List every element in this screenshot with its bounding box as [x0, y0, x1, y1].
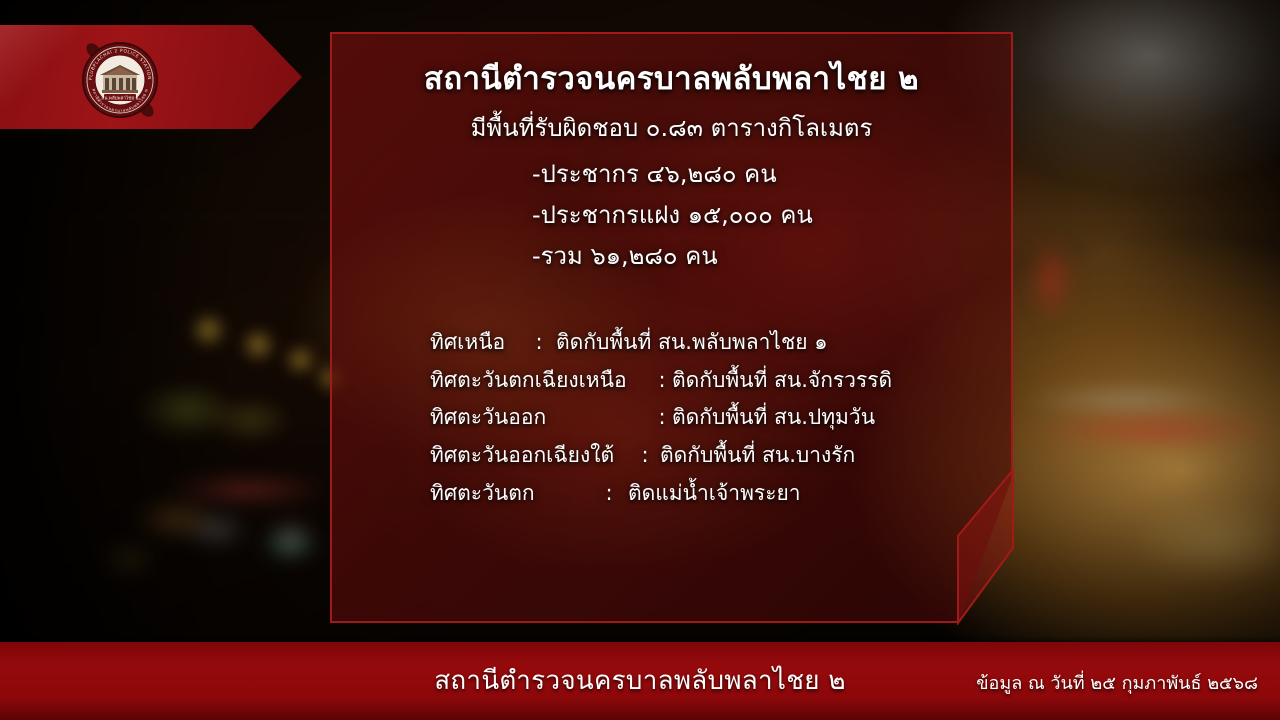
- boundary-colon: :: [652, 399, 672, 437]
- boundary-row-east: ทิศตะวันออก : ติดกับพื้นที่ สน.ปทุมวัน: [430, 399, 1013, 437]
- boundary-colon: :: [590, 475, 628, 513]
- svg-text:สน.พลับพลาไชย ๒: สน.พลับพลาไชย ๒: [101, 95, 138, 102]
- boundary-value: ติดกับพื้นที่ สน.บางรัก: [660, 437, 855, 475]
- boundary-direction: ทิศตะวันตกเฉียงเหนือ: [430, 362, 652, 400]
- boundary-value: ติดกับพื้นที่ สน.จักรวรรดิ: [672, 362, 892, 400]
- page-title: สถานีตำรวจนครบาลพลับพลาไชย ๒: [330, 32, 1013, 99]
- boundary-value: ติดแม่น้ำเจ้าพระยา: [628, 475, 801, 513]
- boundary-value: ติดกับพื้นที่ สน.พลับพลาไชย ๑: [556, 324, 828, 362]
- population-list: -ประชากร ๔๖,๒๘๐ คน -ประชากรแฝง ๑๕,๐๐๐ คน…: [330, 154, 1013, 278]
- boundary-direction: ทิศตะวันตก: [430, 475, 590, 513]
- boundary-row-northwest: ทิศตะวันตกเฉียงเหนือ : ติดกับพื้นที่ สน.…: [430, 362, 1013, 400]
- list-item: -รวม ๖๑,๒๘๐ คน: [330, 236, 1013, 277]
- boundary-colon: :: [630, 437, 660, 475]
- boundary-row-north: ทิศเหนือ : ติดกับพื้นที่ สน.พลับพลาไชย ๑: [430, 324, 1013, 362]
- footer-date: ข้อมูล ณ วันที่ ๒๕ กุมภาพันธ์ ๒๕๖๘: [976, 668, 1258, 697]
- slide-root: สน.พลับพลาไชย ๒ PLUBPLACHAI 2 POLICE STA…: [0, 0, 1280, 720]
- boundary-value: ติดกับพื้นที่ สน.ปทุมวัน: [672, 399, 875, 437]
- boundary-direction: ทิศตะวันออกเฉียงใต้: [430, 437, 630, 475]
- list-item: -ประชากร ๔๖,๒๘๐ คน: [330, 154, 1013, 195]
- list-item: -ประชากรแฝง ๑๕,๐๐๐ คน: [330, 195, 1013, 236]
- boundary-list: ทิศเหนือ : ติดกับพื้นที่ สน.พลับพลาไชย ๑…: [330, 324, 1013, 513]
- boundary-colon: :: [522, 324, 556, 362]
- boundary-row-southeast: ทิศตะวันออกเฉียงใต้ : ติดกับพื้นที่ สน.บ…: [430, 437, 1013, 475]
- boundary-direction: ทิศตะวันออก: [430, 399, 652, 437]
- footer-bar: สถานีตำรวจนครบาลพลับพลาไชย ๒ ข้อมูล ณ วั…: [0, 642, 1280, 720]
- police-station-seal-icon: สน.พลับพลาไชย ๒ PLUBPLACHAI 2 POLICE STA…: [72, 32, 168, 128]
- boundary-row-west: ทิศตะวันตก : ติดแม่น้ำเจ้าพระยา: [430, 475, 1013, 513]
- area-subtitle: มีพื้นที่รับผิดชอบ ๐.๘๓ ตารางกิโลเมตร: [330, 113, 1013, 144]
- boundary-colon: :: [652, 362, 672, 400]
- boundary-direction: ทิศเหนือ: [430, 324, 522, 362]
- panel-content: สถานีตำรวจนครบาลพลับพลาไชย ๒ มีพื้นที่รั…: [330, 32, 1013, 623]
